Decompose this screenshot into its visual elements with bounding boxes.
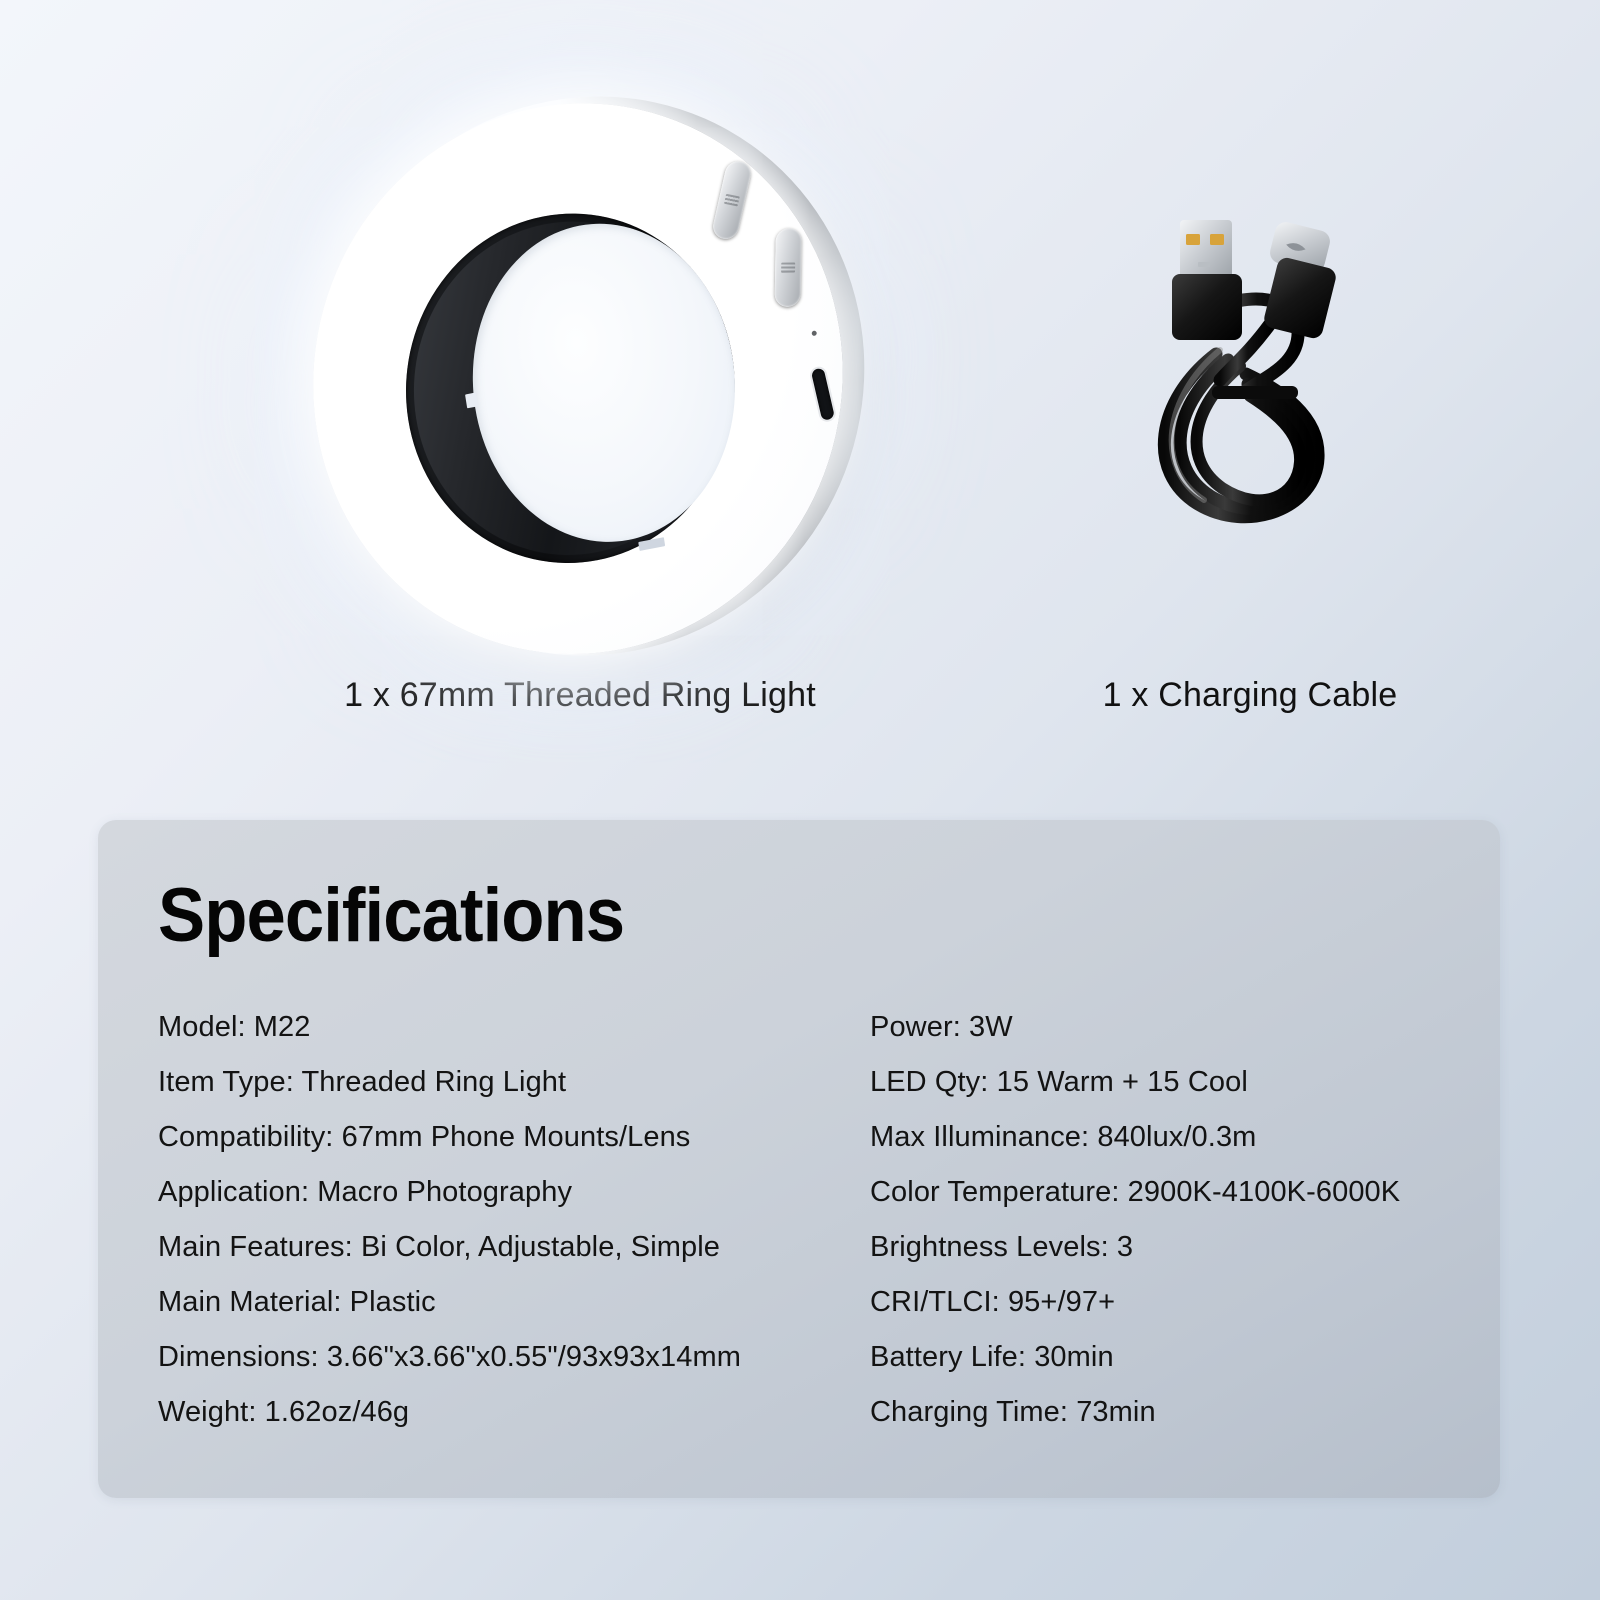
spec-row: Battery Life: 30min — [870, 1330, 1470, 1385]
cable-illustration — [1120, 204, 1380, 544]
spec-row: Dimensions: 3.66"x3.66"x0.55"/93x93x14mm — [158, 1330, 870, 1385]
usb-a-connector — [1172, 220, 1242, 340]
product-caption-charging-cable: 1 x Charging Cable — [1103, 676, 1398, 715]
spec-row: LED Qty: 15 Warm + 15 Cool — [870, 1055, 1470, 1110]
ring-light-product-icon — [273, 48, 911, 708]
product-item-ring-light: 1 x 67mm Threaded Ring Light — [180, 90, 980, 715]
cable-tie — [1212, 386, 1298, 399]
specifications-columns: Model: M22 Item Type: Threaded Ring Ligh… — [98, 1000, 1500, 1440]
product-item-charging-cable: 1 x Charging Cable — [930, 90, 1570, 715]
cable-coil — [1164, 350, 1318, 517]
color-temp-glyph-icon — [781, 262, 795, 272]
spec-row: CRI/TLCI: 95+/97+ — [870, 1275, 1470, 1330]
spec-row: Application: Macro Photography — [158, 1165, 870, 1220]
spec-row: Brightness Levels: 3 — [870, 1220, 1470, 1275]
usb-c-connector — [1262, 220, 1338, 340]
specifications-panel: Specifications Model: M22 Item Type: Thr… — [98, 820, 1500, 1498]
spec-row: Model: M22 — [158, 1000, 870, 1055]
spec-row: Color Temperature: 2900K-4100K-6000K — [870, 1165, 1470, 1220]
spec-row: Item Type: Threaded Ring Light — [158, 1055, 870, 1110]
brightness-glyph-icon — [724, 194, 740, 207]
thread-notch-icon — [465, 392, 478, 408]
spec-row: Compatibility: 67mm Phone Mounts/Lens — [158, 1110, 870, 1165]
charging-cable-image — [930, 90, 1570, 670]
spec-row: Power: 3W — [870, 1000, 1470, 1055]
specifications-heading: Specifications — [158, 872, 624, 959]
usb-cable-product-icon — [1120, 204, 1380, 544]
product-gallery: 1 x 67mm Threaded Ring Light — [0, 0, 1600, 800]
spec-row: Max Illuminance: 840lux/0.3m — [870, 1110, 1470, 1165]
specifications-right-column: Power: 3W LED Qty: 15 Warm + 15 Cool Max… — [870, 1000, 1470, 1440]
spec-row: Weight: 1.62oz/46g — [158, 1385, 870, 1440]
color-temperature-button[interactable] — [775, 228, 802, 307]
spec-row: Main Material: Plastic — [158, 1275, 870, 1330]
spec-row: Main Features: Bi Color, Adjustable, Sim… — [158, 1220, 870, 1275]
ring-light-image — [180, 90, 980, 670]
spec-row: Charging Time: 73min — [870, 1385, 1470, 1440]
specifications-left-column: Model: M22 Item Type: Threaded Ring Ligh… — [158, 1000, 870, 1440]
